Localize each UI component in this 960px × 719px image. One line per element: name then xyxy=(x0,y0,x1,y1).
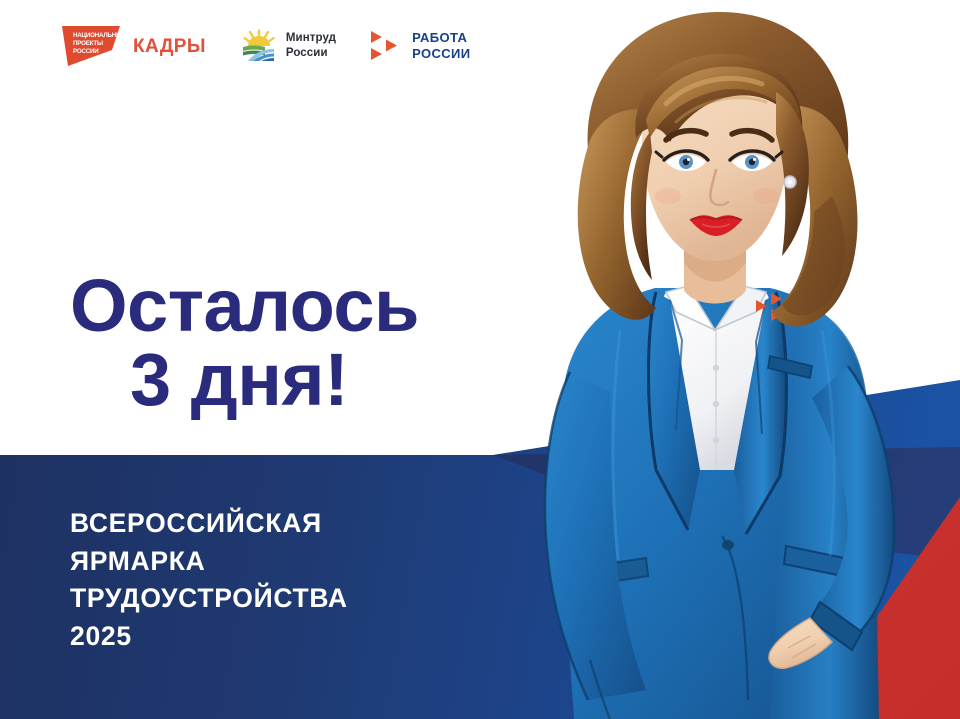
mintrud-sun-field-icon xyxy=(240,27,278,65)
fair-title-line3: ТРУДОУСТРОЙСТВА xyxy=(70,580,348,618)
svg-text:НАЦИОНАЛЬНЫЕ: НАЦИОНАЛЬНЫЕ xyxy=(73,32,124,39)
rabota-rossii-pinwheel-icon xyxy=(370,29,404,63)
headline-line1: Осталось xyxy=(70,264,419,347)
fair-title: ВСЕРОССИЙСКАЯ ЯРМАРКА ТРУДОУСТРОЙСТВА 20… xyxy=(70,505,348,656)
logo-mintrud: Минтруд России xyxy=(240,27,336,65)
fair-title-line4: 2025 xyxy=(70,618,348,656)
countdown-headline: Осталось 3 дня! xyxy=(70,196,419,489)
fair-title-line2: ЯРМАРКА xyxy=(70,543,348,581)
fair-title-line1: ВСЕРОССИЙСКАЯ xyxy=(70,505,348,543)
mintrud-line1: Минтруд xyxy=(286,31,336,46)
mintrud-wordmark: Минтруд России xyxy=(286,31,336,60)
mintrud-line2: России xyxy=(286,46,336,61)
national-projects-flag-icon: НАЦИОНАЛЬНЫЕ ПРОЕКТЫ РОССИИ xyxy=(58,24,124,68)
natsproekty-wordmark: КАДРЫ xyxy=(133,37,206,56)
rabota-wordmark: РАБОТА РОССИИ xyxy=(412,30,470,61)
promo-poster: НАЦИОНАЛЬНЫЕ ПРОЕКТЫ РОССИИ КАДРЫ xyxy=(0,0,960,719)
svg-text:ПРОЕКТЫ: ПРОЕКТЫ xyxy=(73,40,103,47)
logo-rabota-rossii: РАБОТА РОССИИ xyxy=(370,29,470,63)
svg-text:РОССИИ: РОССИИ xyxy=(73,48,99,55)
rabota-line1: РАБОТА xyxy=(412,30,470,46)
businesswoman-illustration xyxy=(470,0,960,719)
rabota-line2: РОССИИ xyxy=(412,46,470,62)
headline-line2: 3 дня! xyxy=(70,343,419,416)
logo-row: НАЦИОНАЛЬНЫЕ ПРОЕКТЫ РОССИИ КАДРЫ xyxy=(58,24,471,68)
logo-natsproekty: НАЦИОНАЛЬНЫЕ ПРОЕКТЫ РОССИИ КАДРЫ xyxy=(58,24,206,68)
